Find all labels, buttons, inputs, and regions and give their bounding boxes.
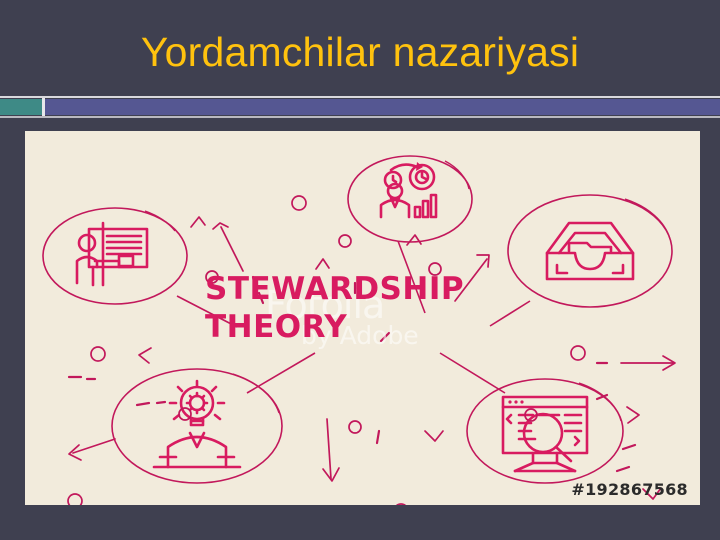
stewardship-theory-image: .ln { fill:none; stroke:#c2185b; stroke-… — [25, 131, 700, 505]
arrow-up-left — [213, 223, 243, 271]
page-title: Yordamchilar nazariyasi — [0, 28, 720, 76]
title-area: Yordamchilar nazariyasi — [0, 0, 720, 96]
connector-lines — [177, 241, 530, 393]
arrow-up-right — [455, 255, 489, 301]
slide: Yordamchilar nazariyasi .ln { fill:none;… — [0, 0, 720, 540]
divider-teal-accent — [0, 99, 42, 115]
divider-purple-bar — [45, 99, 720, 115]
presenter-board-icon — [77, 223, 147, 285]
node-presenter — [43, 208, 187, 304]
node-analysis — [467, 379, 623, 483]
monitor-magnifier-icon — [503, 397, 587, 471]
node-analysis-ellipse — [467, 379, 623, 483]
divider-bottom-hairline — [0, 116, 720, 118]
arrow-down — [323, 419, 339, 481]
stewardship-diagram-artwork: .ln { fill:none; stroke:#c2185b; stroke-… — [25, 131, 700, 505]
arrow-right — [597, 356, 675, 370]
node-inbox-ellipse — [508, 195, 672, 307]
node-inbox — [508, 195, 672, 307]
arrow-down-left — [69, 439, 115, 460]
asset-id-label: #192867568 — [571, 480, 688, 499]
node-time-management — [348, 156, 472, 242]
node-idea — [112, 369, 282, 483]
node-time-ellipse — [348, 156, 472, 242]
divider-bar — [0, 96, 720, 122]
inbox-tray-icon — [547, 223, 633, 279]
person-clock-chart-icon — [381, 162, 436, 217]
person-lightbulb-gear-icon — [154, 381, 240, 467]
divider-top-hairline — [0, 96, 720, 98]
